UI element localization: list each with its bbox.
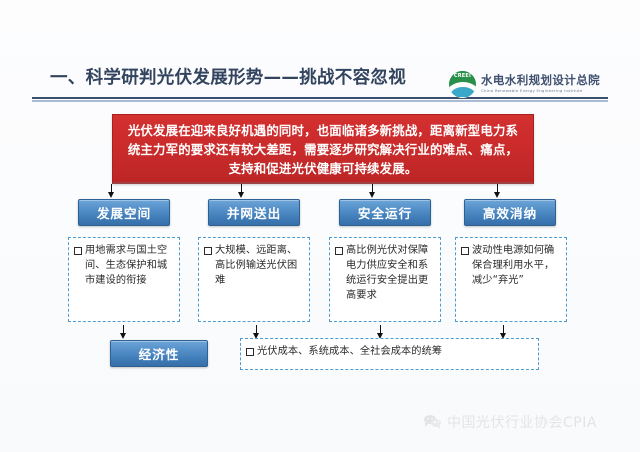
column-body-3: 高比例光伏对保障电力供应安全和系统运行安全提出更高要求 (329, 237, 441, 322)
institute-logo: CREEI 水电水利规划设计总院 China Renewable Energy … (449, 70, 609, 98)
arrow-column-1-to-bottom (119, 325, 128, 339)
bullet-icon (204, 247, 212, 255)
column-body-text-1: 用地需求与国土空间、生态保护和城市建设的衔接 (85, 243, 175, 288)
column-header-3[interactable]: 安全运行 (339, 199, 431, 226)
arrow-banner-to-column-2 (237, 184, 246, 198)
divider-line-light (32, 100, 608, 102)
wechat-icon (424, 415, 442, 430)
logo-wordmark: 水电水利规划设计总院 China Renewable Energy Engine… (481, 75, 600, 92)
bullet-icon (461, 247, 469, 255)
bottom-body: 光伏成本、系统成本、全社会成本的统筹 (240, 338, 539, 370)
column-body-1: 用地需求与国土空间、生态保护和城市建设的衔接 (68, 237, 180, 322)
bottom-body-text: 光伏成本、系统成本、全社会成本的统筹 (257, 344, 442, 359)
column-body-text-2: 大规模、远距离、高比例输送光伏困难 (215, 243, 305, 288)
slide-canvas: 一、科学研判光伏发展形势——挑战不容忽视 CREEI 水电水利规划设计总院 Ch… (0, 0, 640, 452)
arrow-banner-to-column-3 (368, 184, 377, 198)
column-body-text-3: 高比例光伏对保障电力供应安全和系统运行安全提出更高要求 (346, 243, 436, 303)
watermark: 中国光伏行业协会CPIA (424, 412, 597, 432)
bottom-header[interactable]: 经济性 (110, 340, 208, 367)
arrow-column-3-to-bottom (376, 325, 385, 339)
bullet-icon (246, 348, 254, 356)
bullet-icon (74, 247, 82, 255)
logo-name-cn: 水电水利规划设计总院 (481, 75, 600, 87)
page-title: 一、科学研判光伏发展形势——挑战不容忽视 (50, 64, 406, 89)
column-body-2: 大规模、远距离、高比例输送光伏困难 (198, 237, 310, 322)
bullet-icon (335, 247, 343, 255)
column-header-1[interactable]: 发展空间 (78, 199, 170, 226)
arrow-banner-to-column-4 (493, 184, 502, 198)
column-body-text-4: 波动性电源如何确保合理利用水平，减少“弃光” (472, 243, 562, 288)
arrow-column-2-to-bottom (252, 325, 261, 339)
column-header-4[interactable]: 高效消纳 (464, 199, 556, 226)
watermark-text: 中国光伏行业协会CPIA (447, 412, 597, 432)
logo-emblem-text: CREEI (449, 73, 476, 79)
summary-banner: 光伏发展在迎来良好机遇的同时，也面临诸多新挑战，距离新型电力系统主力军的要求还有… (112, 114, 534, 184)
column-body-4: 波动性电源如何确保合理利用水平，减少“弃光” (455, 237, 567, 322)
logo-emblem-icon: CREEI (449, 71, 476, 98)
arrow-banner-to-column-1 (107, 184, 116, 198)
arrow-column-4-to-bottom (499, 325, 508, 339)
logo-name-en: China Renewable Energy Engineering Insti… (481, 89, 600, 93)
column-header-2[interactable]: 并网送出 (208, 199, 300, 226)
